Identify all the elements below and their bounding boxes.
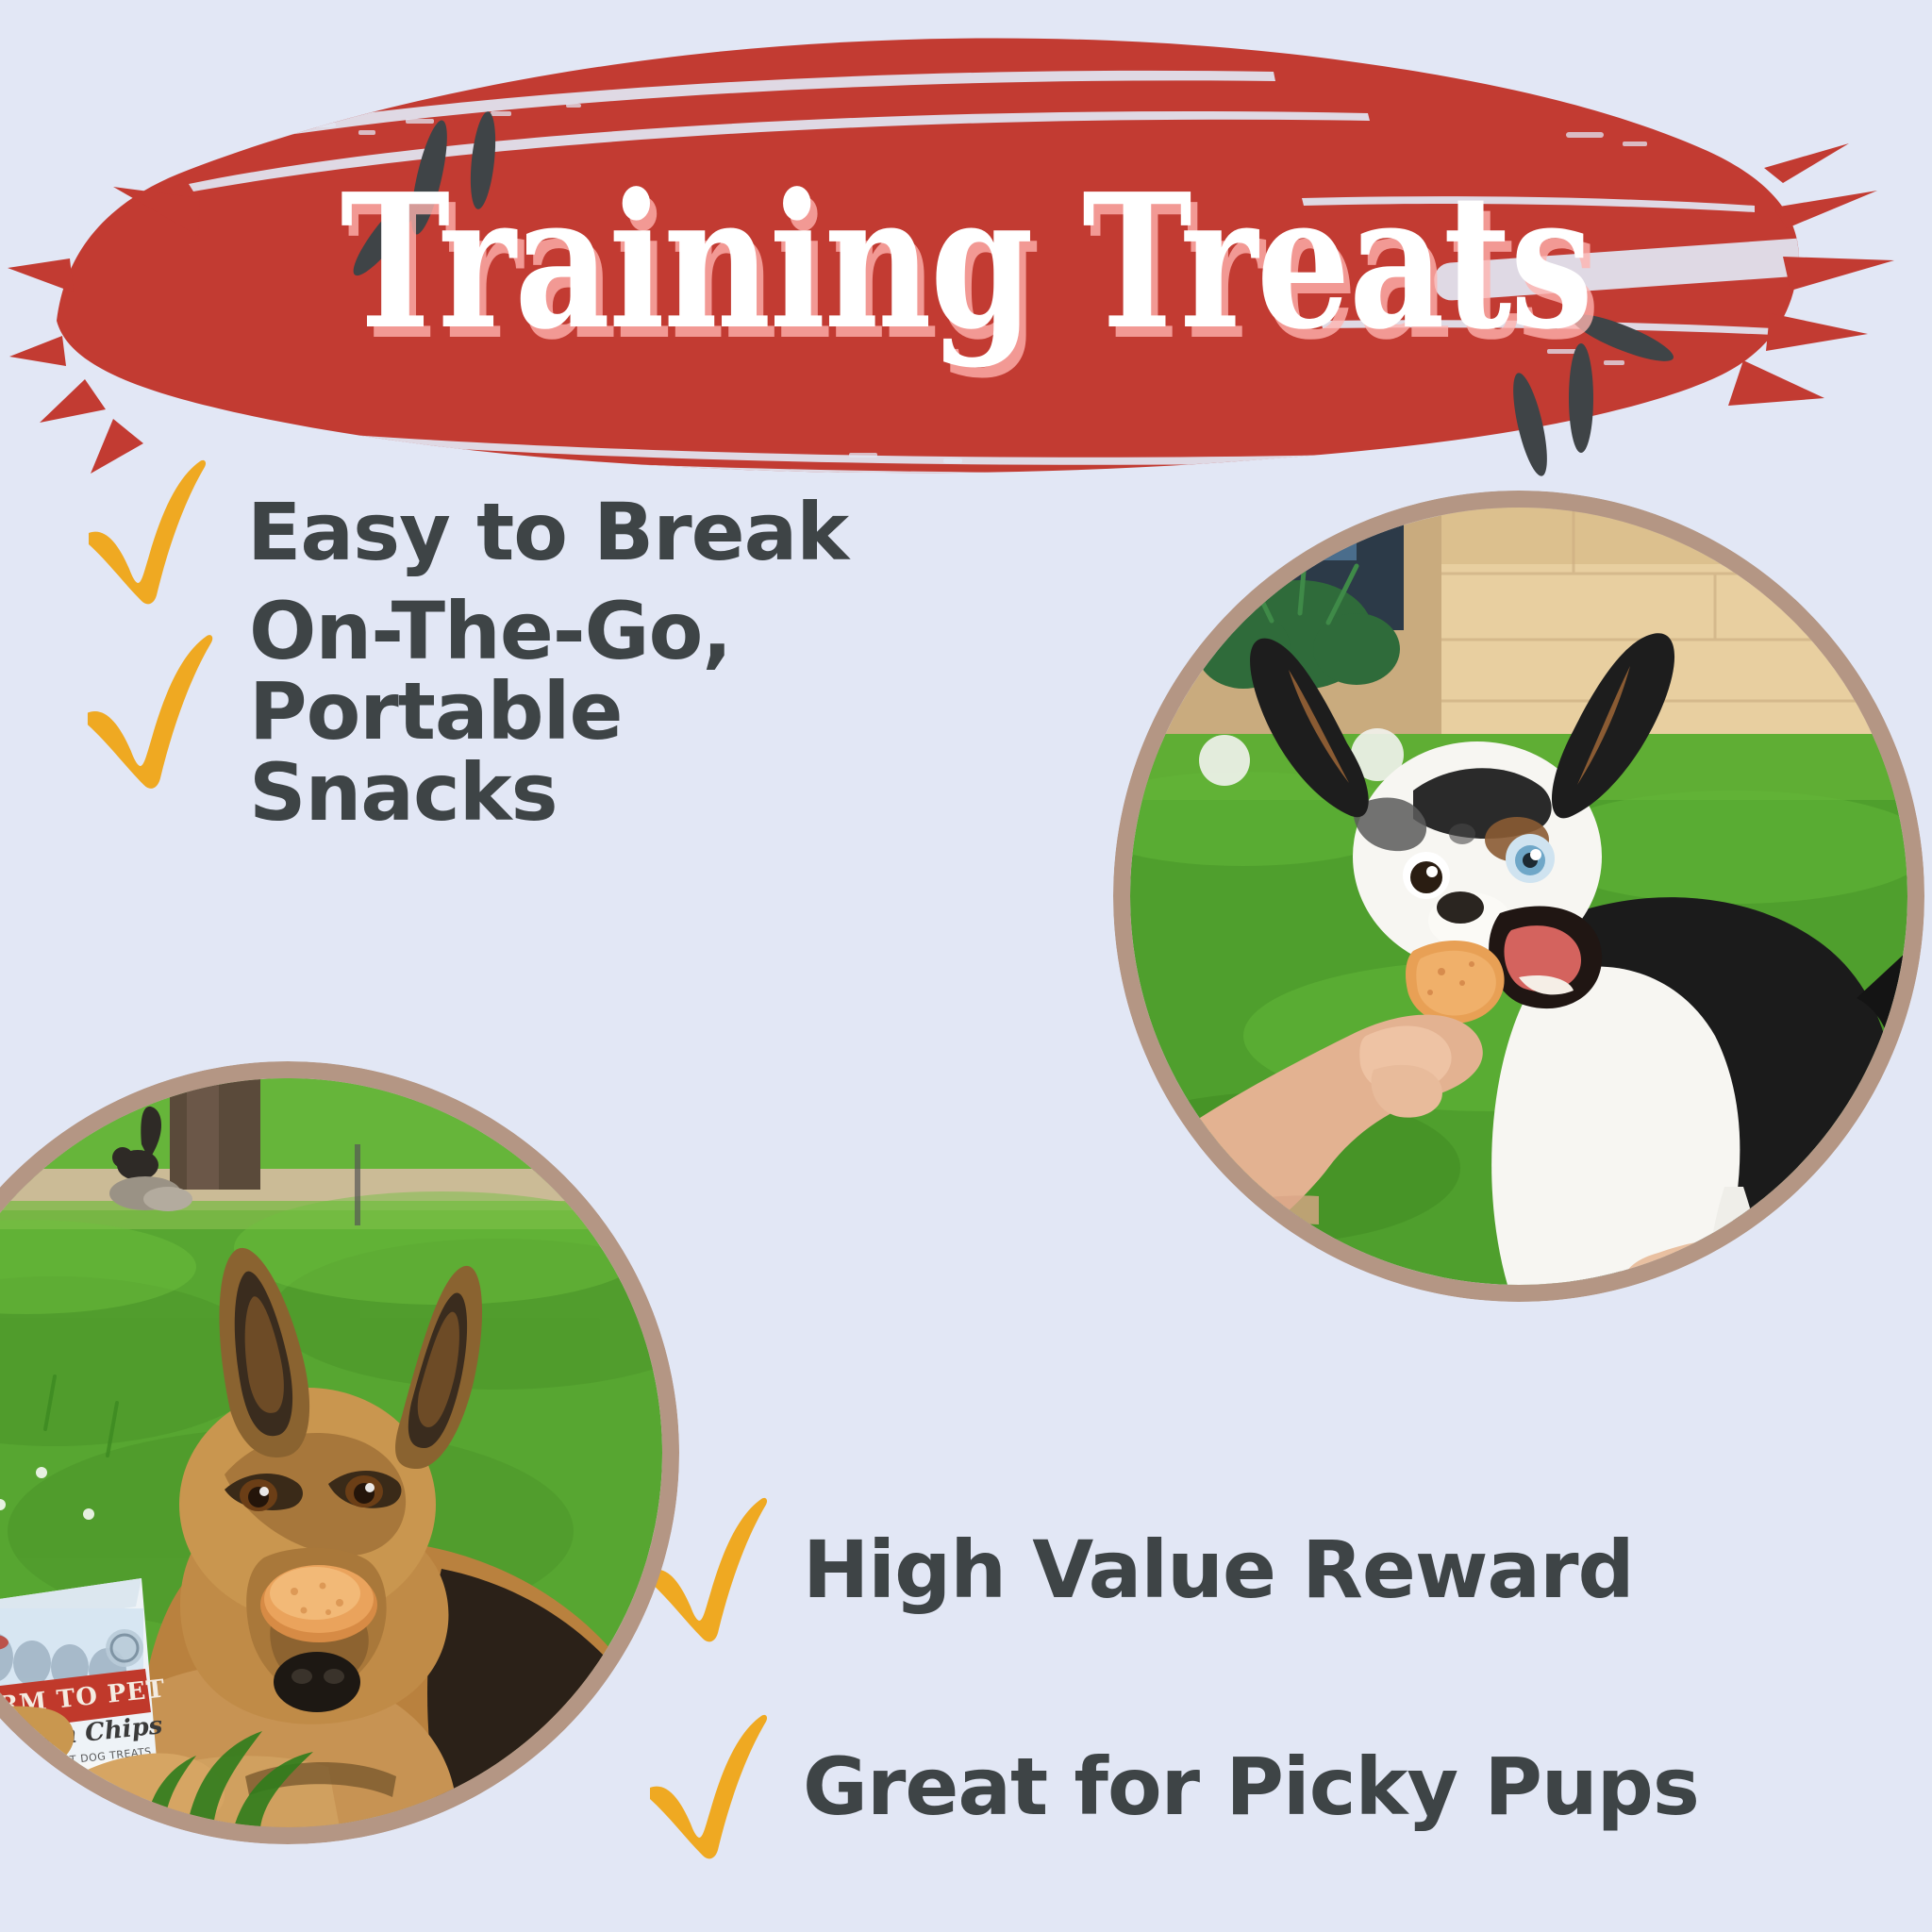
feature-item-on-the-go-portable-snacks: On-The-Go, Portable Snacks xyxy=(74,623,923,802)
photo-image: FARM TO PET Chicken Chips SINGLE INGREDI… xyxy=(0,1078,662,1827)
header-banner: Training Treats xyxy=(0,9,1932,509)
poster-canvas: Training Treats Easy to Break On-The-Go,… xyxy=(0,0,1932,1932)
feature-label: On-The-Go, Portable Snacks xyxy=(249,591,923,834)
photo-image xyxy=(1130,508,1907,1285)
feature-label: High Value Reward xyxy=(803,1530,1634,1611)
feature-item-great-for-picky-pups: Great for Picky Pups xyxy=(637,1717,1932,1858)
photo-german-shepherd-treat-on-nose: FARM TO PET Chicken Chips SINGLE INGREDI… xyxy=(0,1061,679,1844)
feature-label: Easy to Break xyxy=(247,492,848,574)
checkmark-icon xyxy=(75,458,217,608)
feature-item-high-value-reward: High Value Reward xyxy=(637,1500,1920,1641)
brush-stroke-icon xyxy=(0,9,1932,509)
photo-collie-catching-treat xyxy=(1113,491,1924,1302)
feature-label: Great for Picky Pups xyxy=(803,1747,1699,1828)
checkmark-icon xyxy=(74,630,225,795)
